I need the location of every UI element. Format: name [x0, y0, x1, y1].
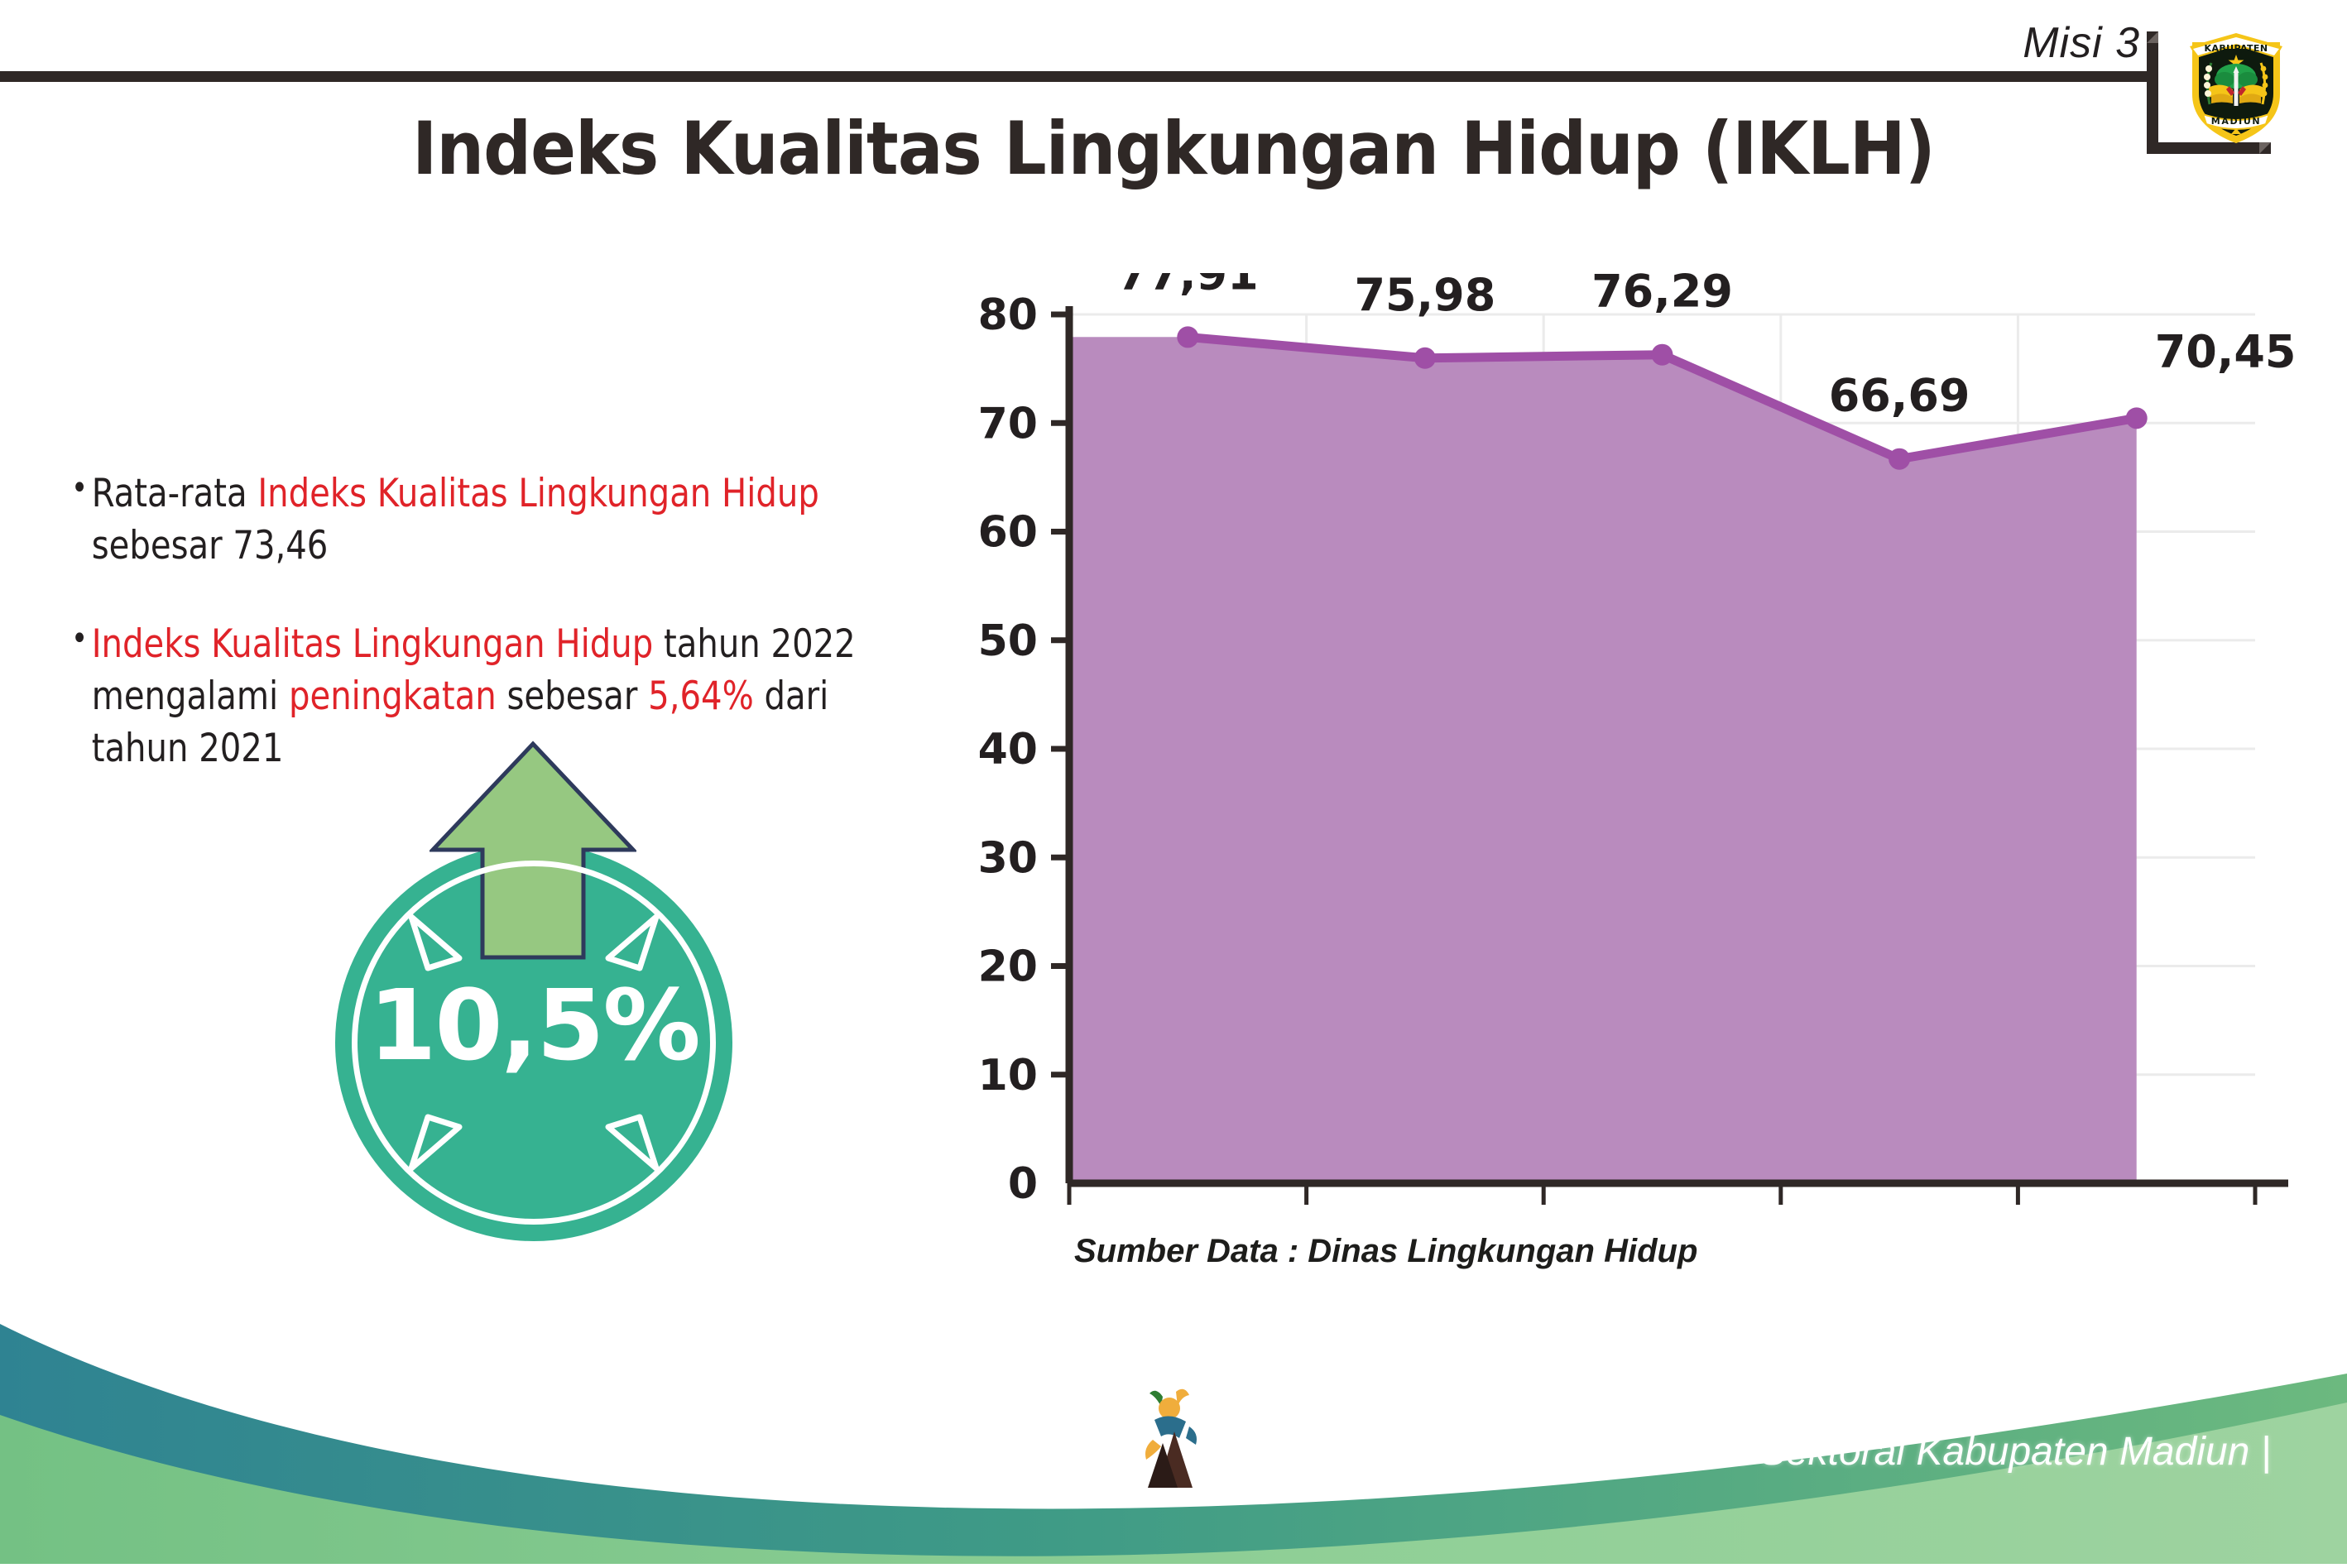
svg-text:75,98: 75,98	[1354, 273, 1495, 321]
bullet-part: sebesar	[497, 674, 648, 719]
increase-badge: 10,5%	[319, 741, 749, 1179]
chart-area-fill	[1069, 337, 2137, 1183]
svg-text:76,29: 76,29	[1591, 273, 1733, 318]
chart-x-axis: 20182019202020212022	[1069, 1183, 2288, 1208]
footer-text: Media Infografis Data Statistik Sektoral…	[1221, 1429, 2271, 1474]
svg-text:10: 10	[978, 1051, 1038, 1100]
header-divider-rule	[0, 71, 2156, 82]
svg-text:60: 60	[978, 508, 1038, 558]
svg-text:70,45: 70,45	[2155, 325, 2297, 377]
media-infografis-logo-icon	[1138, 1383, 1217, 1491]
svg-text:50: 50	[978, 616, 1038, 666]
bullet-part: Rata-rata	[92, 471, 258, 516]
bullet-part-highlight: peningkatan	[289, 674, 497, 719]
chart-y-axis: 01020304050607080	[978, 290, 1069, 1208]
svg-text:20: 20	[978, 942, 1038, 992]
bullet-part-highlight: 5,64%	[648, 674, 754, 719]
bullet-part-highlight: Indeks Kualitas Lingkungan Hidup	[92, 621, 654, 667]
svg-text:66,69: 66,69	[1829, 370, 1970, 422]
svg-text:30: 30	[978, 833, 1038, 883]
bullet-part: sebesar 73,46	[92, 523, 329, 568]
svg-text:KABUPATEN: KABUPATEN	[2205, 43, 2268, 54]
misi-label: Misi 3	[2023, 18, 2140, 68]
svg-text:40: 40	[978, 725, 1038, 774]
svg-text:77,91: 77,91	[1117, 273, 1259, 300]
svg-text:80: 80	[978, 290, 1038, 340]
svg-text:70: 70	[978, 399, 1038, 448]
svg-text:0: 0	[1008, 1159, 1038, 1208]
source-note: Sumber Data : Dinas Lingkungan Hidup	[1074, 1233, 1697, 1270]
page-title: Indeks Kualitas Lingkungan Hidup (IKLH)	[94, 106, 2253, 191]
bullet-part-highlight: Indeks Kualitas Lingkungan Hidup	[257, 471, 819, 516]
list-item: Rata-rata Indeks Kualitas Lingkungan Hid…	[71, 468, 913, 573]
iklh-area-chart: 01020304050607080 20182019202020212022 7…	[977, 273, 2301, 1208]
badge-value-text: 10,5%	[335, 968, 732, 1082]
